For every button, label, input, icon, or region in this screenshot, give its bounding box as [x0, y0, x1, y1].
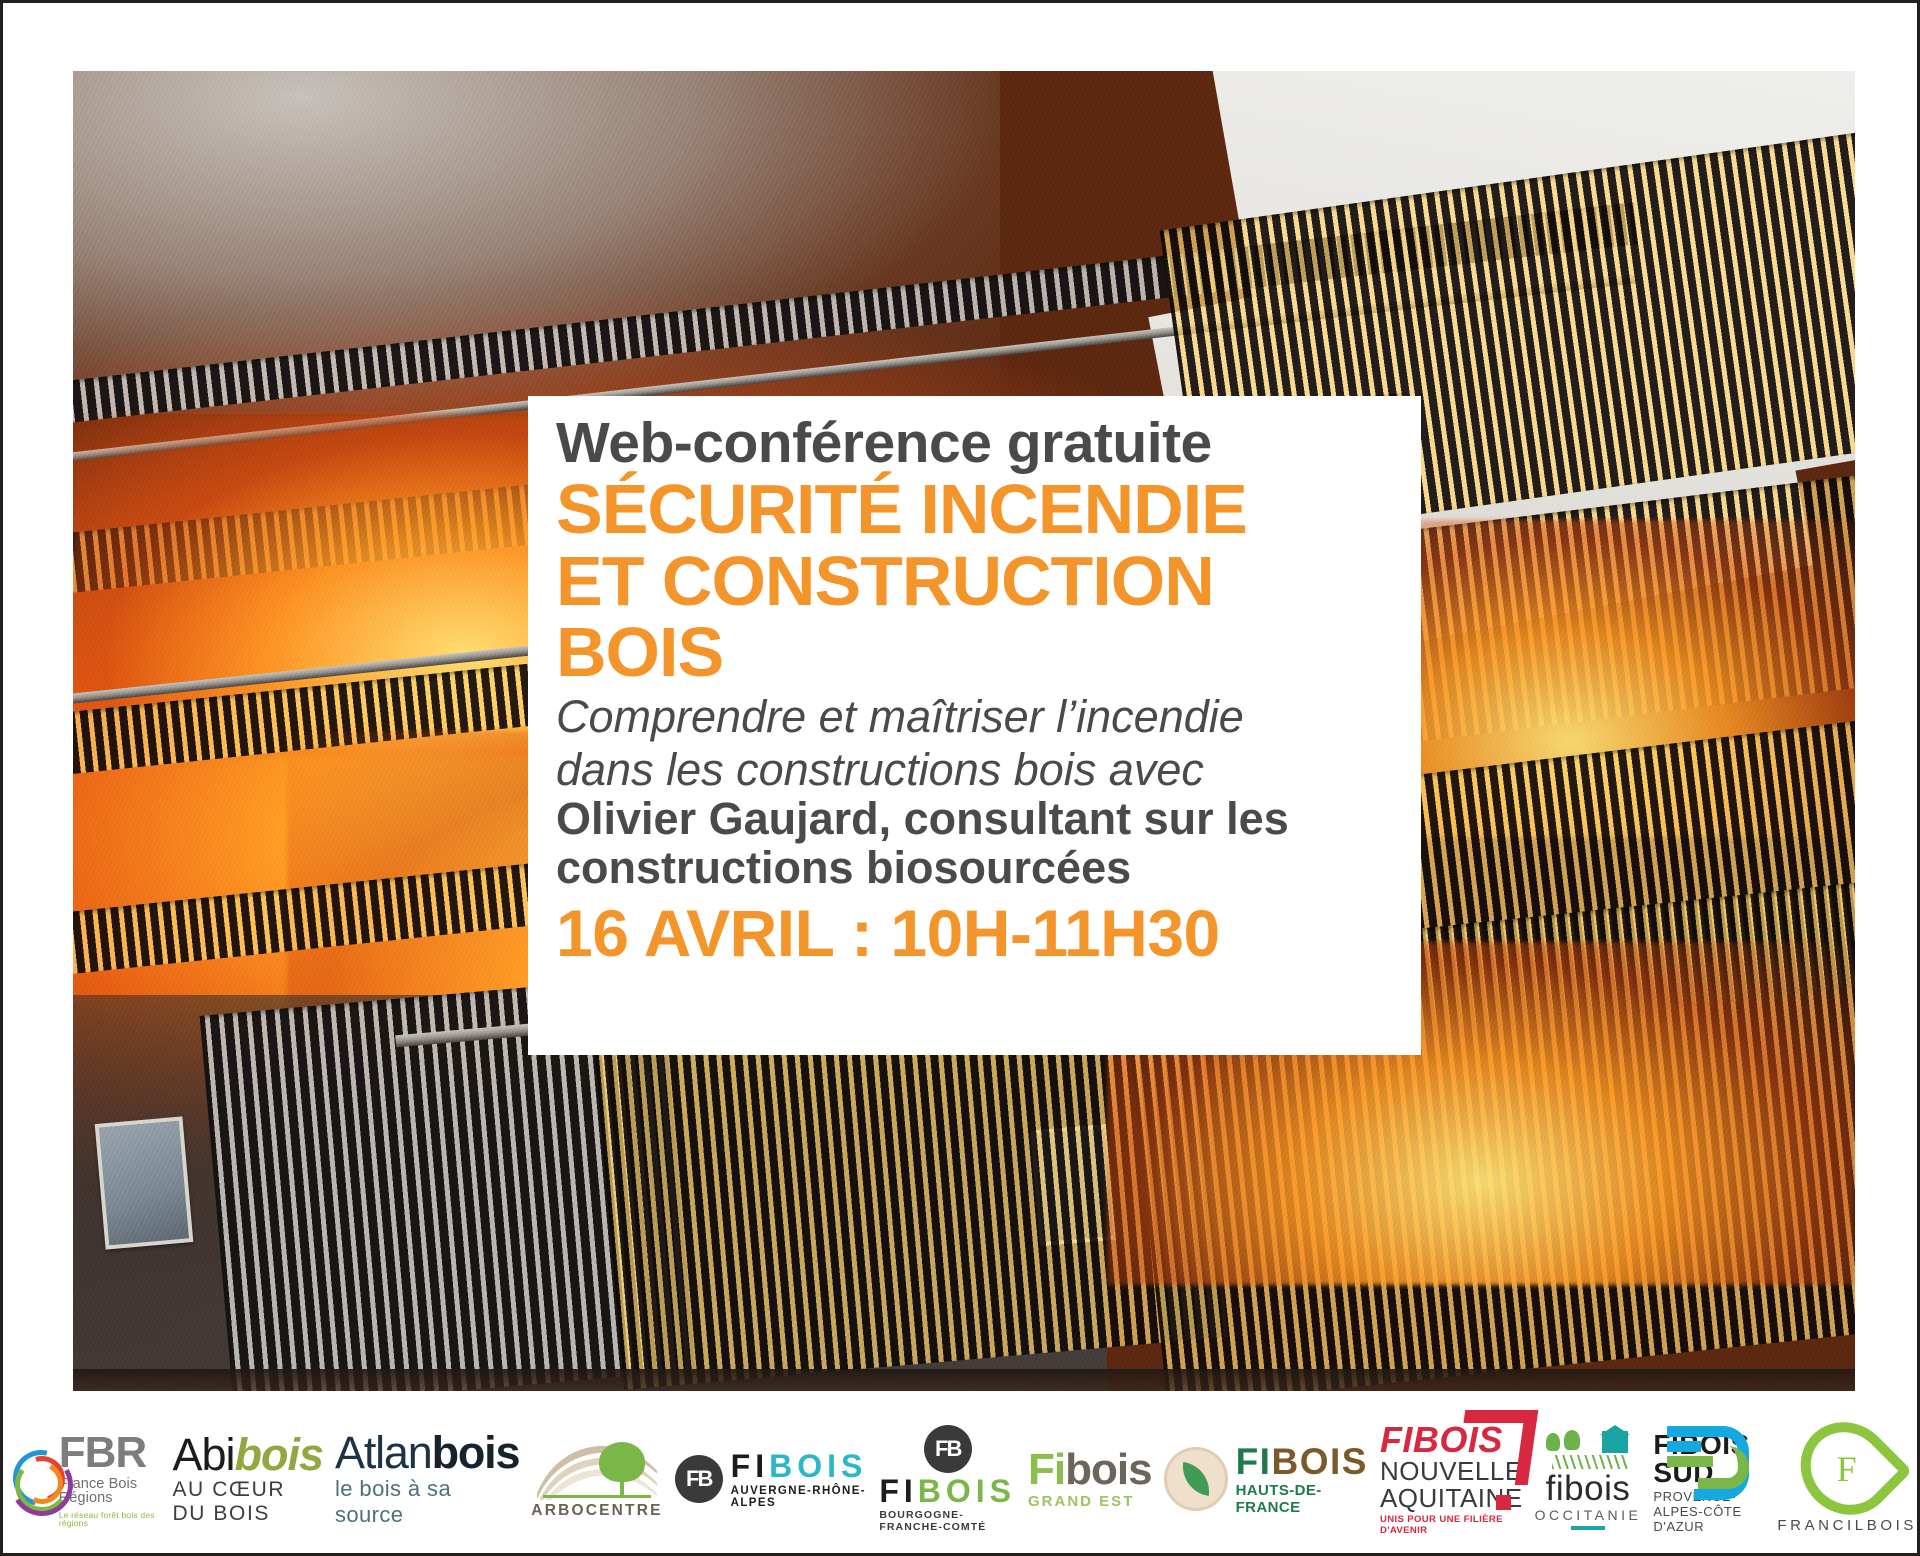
- logo-fibois-occitanie[interactable]: fibois OCCITANIE: [1529, 1424, 1648, 1534]
- abibois-wordmark: Abibois: [172, 1432, 323, 1477]
- card-headline-line-3: BOIS: [556, 617, 1391, 688]
- abibois-word-light: Abi: [172, 1429, 234, 1480]
- fibois-hdf-word: FIBOIS: [1236, 1443, 1368, 1480]
- fibois-badge-letters: FB: [686, 1466, 711, 1492]
- arbocentre-label: ARBOCENTRE: [531, 1502, 662, 1520]
- francilbois-word: FRANCILBOIS: [1777, 1517, 1917, 1534]
- building-window-left: [94, 1117, 193, 1250]
- logo-fbr[interactable]: FBR France Bois Régions Le réseau forêt …: [3, 1424, 166, 1534]
- fibois-ara-word: FIBOIS: [731, 1450, 868, 1482]
- card-date-time: 16 AVRIL : 10H-11H30: [556, 898, 1391, 969]
- fibois-occitanie-rule: [1571, 1526, 1605, 1530]
- card-subtitle-line-2: dans les constructions bois avec: [556, 745, 1391, 794]
- card-kicker: Web-conférence gratuite: [556, 414, 1391, 472]
- logo-fibois-sud[interactable]: FIBOIS SUD PROVENCE-ALPES-CÔTE D'AZUR: [1647, 1424, 1771, 1534]
- logo-francilbois[interactable]: F FRANCILBOIS: [1771, 1424, 1920, 1534]
- fibois-occitanie-region: OCCITANIE: [1535, 1507, 1642, 1523]
- fibois-bfc-region: BOURGOGNE-FRANCHE-COMTÉ: [879, 1509, 1016, 1533]
- logo-fibois-auvergne-rhone-alpes[interactable]: FB FIBOIS AUVERGNE-RHÔNE-ALPES: [669, 1424, 874, 1534]
- card-headline-line-1: SÉCURITÉ INCENDIE: [556, 474, 1391, 545]
- atlanbois-word-light: Atlan: [335, 1427, 432, 1478]
- fibois-badge-icon: FB: [675, 1455, 723, 1503]
- arbocentre-tree-icon: [537, 1438, 657, 1500]
- card-speaker-line-2: constructions biosourcées: [556, 843, 1391, 892]
- atlanbois-wordmark: Atlanbois: [335, 1430, 519, 1475]
- fbr-acronym: FBR: [59, 1431, 161, 1475]
- atlanbois-word-bold: bois: [432, 1427, 520, 1478]
- abibois-tagline: AU CŒUR DU BOIS: [172, 1478, 323, 1526]
- fibois-na-dot-icon: [1496, 1495, 1511, 1510]
- logo-abibois[interactable]: Abibois AU CŒUR DU BOIS: [166, 1424, 329, 1534]
- logo-atlanbois[interactable]: Atlanbois le bois à sa source: [329, 1424, 525, 1534]
- fibois-hdf-region: HAUTS-DE-FRANCE: [1236, 1482, 1368, 1516]
- logo-fibois-bourgogne-franche-comte[interactable]: FB FIBOIS BOURGOGNE-FRANCHE-COMTÉ: [873, 1424, 1022, 1534]
- card-headline-line-2: ET CONSTRUCTION: [556, 546, 1391, 617]
- fbr-wordmark: FBR France Bois Régions Le réseau forêt …: [59, 1431, 161, 1528]
- fibois-hdf-leaf-icon: [1164, 1447, 1228, 1511]
- logo-arbocentre[interactable]: ARBOCENTRE: [525, 1424, 668, 1534]
- poster-root: Web-conférence gratuite SÉCURITÉ INCENDI…: [0, 0, 1920, 1556]
- fibois-na-flag-icon: [1454, 1410, 1538, 1485]
- francilbois-drop-icon: F: [1782, 1403, 1913, 1534]
- card-subtitle-line-1: Comprendre et maîtriser l’incendie: [556, 692, 1391, 741]
- building-base-shadow: [73, 1369, 1855, 1391]
- fbr-fullname: France Bois Régions: [59, 1477, 161, 1506]
- fibois-ara-wordmark: FIBOIS AUVERGNE-RHÔNE-ALPES: [731, 1450, 868, 1509]
- abibois-word-bold: bois: [234, 1429, 323, 1480]
- fibois-bfc-word: FIBOIS: [879, 1475, 1016, 1507]
- francilbois-monogram: F: [1837, 1451, 1857, 1487]
- fibois-ara-region: AUVERGNE-RHÔNE-ALPES: [731, 1485, 868, 1509]
- fibois-na-tagline: UNIS POUR UNE FILIÈRE D'AVENIR: [1380, 1514, 1523, 1536]
- fibois-ge-region: GRAND EST: [1028, 1493, 1134, 1510]
- fibois-hdf-wordmark: FIBOIS HAUTS-DE-FRANCE: [1236, 1443, 1368, 1516]
- logo-fibois-hauts-de-france[interactable]: FIBOIS HAUTS-DE-FRANCE: [1158, 1424, 1374, 1534]
- fbr-tagline: Le réseau forêt bois des régions: [59, 1511, 161, 1528]
- fbr-arc-icon: [9, 1448, 51, 1510]
- logo-fibois-grand-est[interactable]: Fibois GRAND EST: [1022, 1424, 1158, 1534]
- card-speaker-line-1: Olivier Gaujard, consultant sur les: [556, 794, 1391, 843]
- fibois-occitanie-landscape-icon: [1542, 1429, 1634, 1471]
- fibois-occitanie-word: fibois: [1546, 1471, 1631, 1506]
- partner-logo-strip: FBR France Bois Régions Le réseau forêt …: [3, 1403, 1920, 1555]
- fibois-sud-mark-icon: [1667, 1424, 1751, 1431]
- fibois-ge-word: Fibois: [1028, 1448, 1152, 1492]
- fibois-bfc-badge-letters: FB: [935, 1436, 960, 1462]
- fibois-bfc-badge-icon: FB: [924, 1425, 972, 1473]
- logo-fibois-nouvelle-aquitaine[interactable]: FIBOIS NOUVELLE AQUITAINE UNIS POUR UNE …: [1374, 1424, 1529, 1534]
- announcement-card: Web-conférence gratuite SÉCURITÉ INCENDI…: [528, 396, 1421, 1055]
- atlanbois-tagline: le bois à sa source: [335, 1476, 519, 1528]
